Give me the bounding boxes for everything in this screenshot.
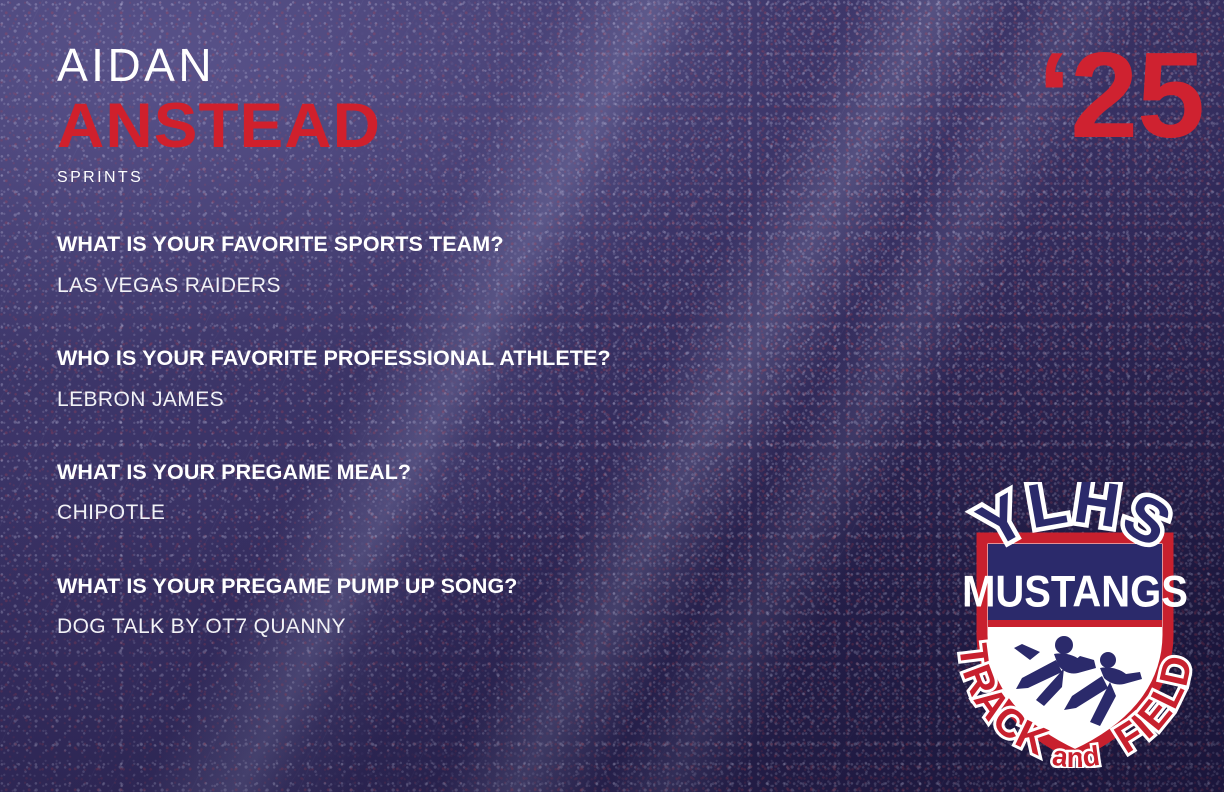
qa-answer: CHIPOTLE (57, 501, 611, 525)
athlete-last-name: ANSTEAD (57, 95, 381, 158)
qa-item: WHAT IS YOUR FAVORITE SPORTS TEAM? LAS V… (57, 232, 611, 298)
qa-question: WHAT IS YOUR FAVORITE SPORTS TEAM? (57, 232, 611, 257)
ylhs-track-and-field-logo: YLHS MUSTANGS TRACK FIELD and (944, 482, 1206, 768)
qa-list: WHAT IS YOUR FAVORITE SPORTS TEAM? LAS V… (57, 232, 611, 639)
qa-answer: LAS VEGAS RAIDERS (57, 274, 611, 298)
athlete-profile-card: AIDAN ANSTEAD SPRINTS ‘25 WHAT IS YOUR F… (0, 0, 1224, 792)
logo-mascot-text: MUSTANGS (962, 566, 1188, 616)
qa-answer: DOG TALK BY OT7 QUANNY (57, 615, 611, 639)
qa-question: WHAT IS YOUR PREGAME PUMP UP SONG? (57, 574, 611, 599)
qa-item: WHO IS YOUR FAVORITE PROFESSIONAL ATHLET… (57, 346, 611, 412)
qa-answer: LEBRON JAMES (57, 388, 611, 412)
qa-item: WHAT IS YOUR PREGAME PUMP UP SONG? DOG T… (57, 574, 611, 640)
class-year-badge: ‘25 (1037, 34, 1204, 156)
logo-sport-conjunction-text: and (1050, 740, 1101, 768)
athlete-name-block: AIDAN ANSTEAD SPRINTS (57, 42, 369, 186)
athlete-first-name: AIDAN (57, 42, 369, 88)
qa-item: WHAT IS YOUR PREGAME MEAL? CHIPOTLE (57, 460, 611, 526)
qa-question: WHAT IS YOUR PREGAME MEAL? (57, 460, 611, 485)
athlete-event: SPRINTS (57, 170, 369, 186)
qa-question: WHO IS YOUR FAVORITE PROFESSIONAL ATHLET… (57, 346, 611, 371)
